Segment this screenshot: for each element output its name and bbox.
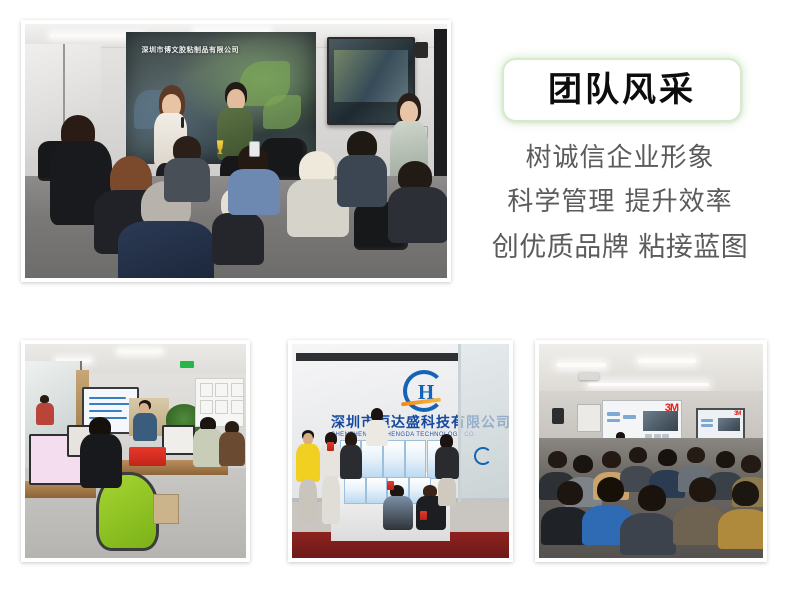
audience-head <box>716 451 735 468</box>
slide-box <box>701 419 713 422</box>
certificate <box>231 400 244 415</box>
torso <box>366 420 388 446</box>
head <box>400 101 418 123</box>
participant <box>366 408 388 446</box>
wall-speaker <box>552 408 564 424</box>
torso <box>164 158 210 202</box>
subtitle-line-2: 科学管理 提升效率 <box>460 181 780 218</box>
slide-box <box>607 419 620 423</box>
standing-presenter <box>131 400 159 440</box>
participant-seated <box>383 485 413 529</box>
torso <box>383 496 413 530</box>
audience-head-front <box>557 481 583 505</box>
torso <box>388 187 447 243</box>
red-cup <box>420 511 427 520</box>
photo-company-logo-wall-group: H 深圳市恒达盛科技有限公司 SHENZHEN CITY HENGDA TECH… <box>292 344 509 558</box>
slide-box <box>623 415 636 419</box>
certificate <box>215 400 228 415</box>
ceiling-projector <box>579 372 599 380</box>
slide-photo <box>718 418 740 431</box>
audience-head <box>658 449 677 466</box>
glass-door-logo <box>474 447 492 465</box>
seated-employee-back <box>80 417 122 487</box>
audience-head <box>548 451 567 468</box>
torso <box>219 432 245 466</box>
display-row <box>89 403 130 405</box>
display-row <box>89 397 126 399</box>
certificate <box>200 383 213 398</box>
whiteboard <box>577 404 601 432</box>
head <box>303 433 313 445</box>
audience-member <box>164 136 210 198</box>
torso <box>228 169 280 215</box>
legs <box>322 476 340 524</box>
exit-sign <box>180 361 194 368</box>
audience-head <box>573 455 593 473</box>
torso <box>133 413 157 441</box>
hair <box>440 434 453 448</box>
torso <box>36 403 54 425</box>
torso <box>337 155 387 207</box>
computer-monitor <box>162 425 195 455</box>
torso <box>118 221 214 278</box>
slide-box <box>607 412 620 416</box>
audience-shoulder-front <box>620 513 676 555</box>
legs <box>299 480 317 524</box>
subtitle-line-3: 创优质品牌 粘接蓝图 <box>460 225 780 264</box>
seated-employee <box>219 421 245 465</box>
torso <box>193 429 223 467</box>
paper-box <box>153 494 179 524</box>
torso <box>435 447 459 479</box>
participant <box>340 432 362 492</box>
brand-3m-logo-side: 3M <box>734 411 740 417</box>
photo-open-office-workspace <box>25 344 246 558</box>
ceiling-light <box>118 350 162 353</box>
page-title: 团队风采 <box>548 73 696 107</box>
torso <box>296 444 320 482</box>
screen-company-name: 深圳市博文胶粘制品有限公司 <box>141 45 239 55</box>
audience-head <box>687 447 705 463</box>
torso <box>80 434 122 488</box>
slide-box <box>701 424 713 427</box>
audience-head <box>741 455 761 473</box>
text-panel: 团队风采 树诚信企业形象 科学管理 提升效率 创优质品牌 粘接蓝图 <box>460 40 780 290</box>
cove-light <box>588 383 709 386</box>
participant <box>296 430 320 524</box>
display-row <box>89 410 122 412</box>
main-photo-frame: 深圳市博文胶粘制品有限公司 <box>21 20 451 282</box>
certificate <box>215 383 228 398</box>
torso <box>340 445 362 479</box>
audience-shoulder-front <box>718 509 763 549</box>
red-cup <box>387 481 394 490</box>
photo-3m-training-seminar: 3M 3M <box>539 344 763 558</box>
head <box>139 403 149 414</box>
seminar-photo-frame: 3M 3M <box>535 340 767 562</box>
legs <box>438 478 456 506</box>
product-box <box>405 440 427 478</box>
torso <box>212 213 264 265</box>
audience-head-front <box>597 477 624 502</box>
audience-member <box>388 161 447 239</box>
red-cup <box>327 442 334 451</box>
hair <box>40 395 49 403</box>
audience-member <box>337 131 387 205</box>
wall-trim <box>296 353 461 362</box>
cove-light <box>638 359 696 363</box>
certificate <box>200 400 213 415</box>
leaf-graphic <box>263 95 301 129</box>
photo-team-award-meeting: 深圳市博文胶粘制品有限公司 <box>25 24 447 278</box>
cove-light <box>557 363 606 367</box>
hair <box>345 432 357 446</box>
audience-head-front <box>638 485 666 511</box>
title-badge: 团队风采 <box>502 58 742 122</box>
seated-employee <box>193 417 223 467</box>
office-photo-frame <box>21 340 250 562</box>
ceiling-speaker <box>415 42 428 58</box>
subtitle-line-1: 树诚信企业形象 <box>460 137 780 174</box>
audience-head-front <box>689 477 716 502</box>
lobby-photo-frame: H 深圳市恒达盛科技有限公司 SHENZHEN CITY HENGDA TECH… <box>288 340 513 562</box>
door-frame <box>434 29 447 176</box>
participant <box>435 434 459 504</box>
audience-head-front <box>732 481 759 506</box>
audience-head <box>629 447 647 463</box>
standing-employee-left <box>36 395 54 425</box>
audience-head <box>602 451 621 468</box>
microphone <box>181 117 184 128</box>
slide-photo <box>643 411 677 431</box>
certificate <box>231 383 244 398</box>
smartphone <box>249 141 260 157</box>
red-toolbox <box>129 447 167 466</box>
side-monitor: 3M <box>696 408 745 442</box>
